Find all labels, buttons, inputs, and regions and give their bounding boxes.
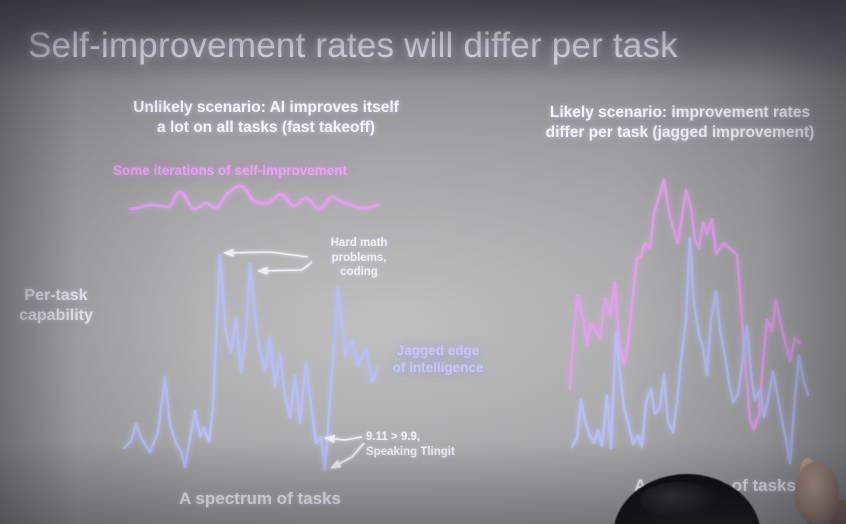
annotation-tlingit-line1: 9.11 > 9.9, [366, 430, 486, 445]
right-panel-title-line1: Likely scenario: improvement rates [520, 103, 840, 123]
page-title: Self-improvement rates will differ per t… [28, 26, 678, 66]
annotation-tlingit: 9.11 > 9.9, Speaking Tlingit [366, 430, 486, 459]
left-x-axis-label: A spectrum of tasks [140, 489, 380, 509]
annotation-hard-math-line1: Hard math [313, 236, 405, 251]
annotation-hard-math: Hard math problems, coding [313, 236, 405, 280]
left-y-axis-label: Per-task capability [6, 286, 106, 326]
annotation-jagged-edge: Jagged edge of intelligence [378, 342, 498, 376]
annotation-tlingit-line2: Speaking Tlingit [366, 445, 486, 460]
annotation-jagged-edge-line2: of intelligence [378, 359, 498, 376]
annotation-hard-math-line3: coding [313, 265, 405, 280]
annotation-jagged-edge-line1: Jagged edge [378, 342, 498, 359]
arrow-tlingit-valley1 [325, 437, 362, 440]
projected-slide: Self-improvement rates will differ per t… [0, 0, 846, 524]
right-improvement-line [570, 180, 800, 429]
arrow-hardmath-peak2 [258, 262, 312, 271]
left-y-axis-label-line1: Per-task [6, 286, 106, 306]
annotation-self-improvement-iterations: Some iterations of self-improvement [113, 163, 403, 178]
arrow-hardmath-peak1 [224, 252, 308, 257]
right-chart-axes [549, 160, 808, 470]
left-iterations-line [130, 186, 379, 209]
left-y-axis-label-line2: capability [6, 306, 106, 326]
left-panel-title-line1: Unlikely scenario: AI improves itself [101, 98, 431, 118]
left-capability-line [124, 256, 378, 470]
right-capability-line [572, 238, 808, 463]
arrow-tlingit-valley2 [331, 443, 364, 468]
left-panel-title: Unlikely scenario: AI improves itself a … [101, 98, 431, 138]
right-panel-title-line2: differ per task (jagged improvement) [520, 123, 840, 143]
left-callout-arrows [224, 252, 364, 468]
left-panel-title-line2: a lot on all tasks (fast takeoff) [101, 118, 431, 138]
annotation-hard-math-line2: problems, [313, 251, 405, 266]
presenter-hand [795, 462, 839, 524]
right-panel-title: Likely scenario: improvement rates diffe… [520, 103, 840, 143]
